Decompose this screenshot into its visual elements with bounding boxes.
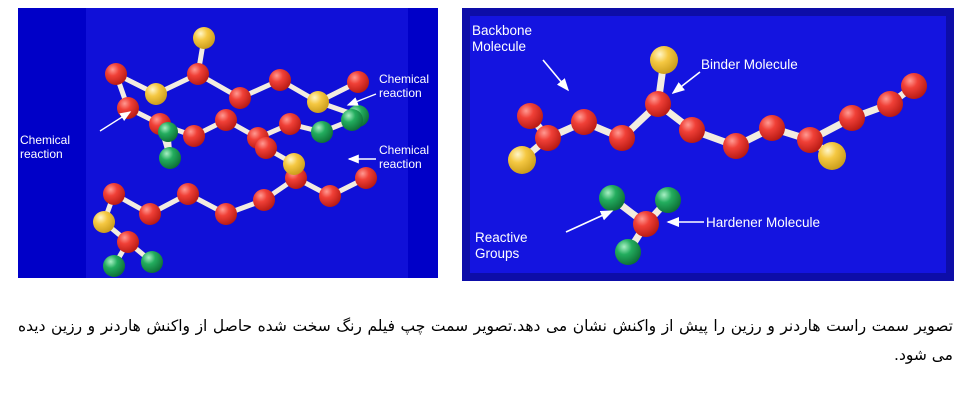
left-atoms: [93, 27, 377, 277]
uncured-hardener-resin-figure: Backbone Molecule Binder Molecule Harden…: [462, 8, 954, 281]
label-chemical-reaction-bottom-right: Chemical reaction: [379, 143, 429, 171]
label-reactive-groups: Reactive Groups: [475, 230, 528, 262]
label-binder-molecule: Binder Molecule: [701, 57, 798, 73]
figure-caption: تصویر سمت راست هاردنر و رزین را پیش از و…: [18, 312, 953, 369]
right-molecule-graphic: [462, 8, 954, 281]
label-hardener-molecule: Hardener Molecule: [706, 215, 820, 231]
diagram-stage: Chemical reaction Chemical reaction Chem…: [0, 0, 971, 402]
label-backbone-molecule: Backbone Molecule: [472, 23, 532, 55]
cured-film-figure: Chemical reaction Chemical reaction Chem…: [18, 8, 438, 278]
label-chemical-reaction-left: Chemical reaction: [20, 133, 70, 161]
right-atoms: [508, 46, 927, 265]
left-molecule-graphic: [18, 8, 438, 278]
label-chemical-reaction-top-right: Chemical reaction: [379, 72, 429, 100]
left-bonds: [104, 38, 366, 266]
